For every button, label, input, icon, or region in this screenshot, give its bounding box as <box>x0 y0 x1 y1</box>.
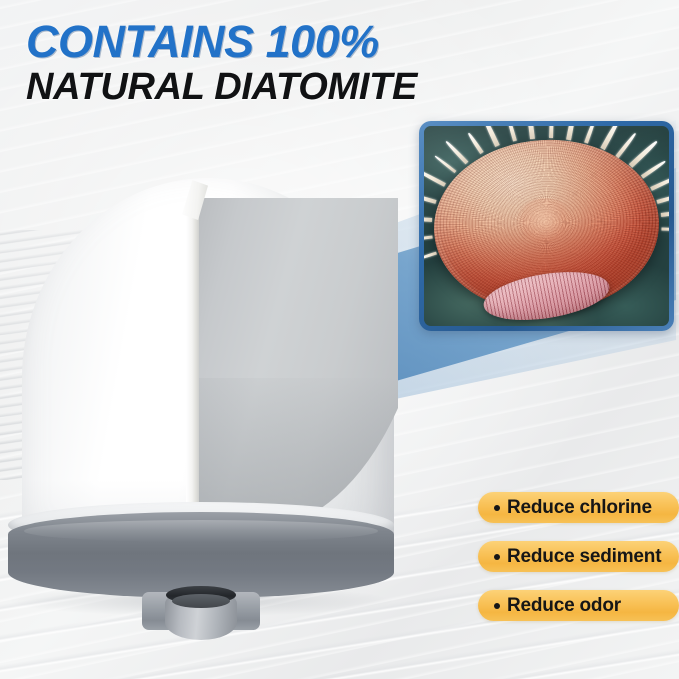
filter-threaded-fitting <box>142 590 260 640</box>
cavity-wall-rim <box>186 198 199 543</box>
micrograph-gloss <box>424 126 669 326</box>
bullet-icon <box>494 603 500 609</box>
headline-block: CONTAINS 100% NATURAL DIATOMITE <box>26 18 417 107</box>
headline-line-1: CONTAINS 100% <box>26 18 417 65</box>
badge-label: Reduce chlorine <box>507 497 652 519</box>
water-filter-product <box>0 150 420 670</box>
badge-label: Reduce odor <box>507 595 621 617</box>
product-marketing-image: CONTAINS 100% NATURAL DIATOMITE <box>0 0 679 679</box>
bullet-icon <box>494 554 500 560</box>
badge-reduce-chlorine[interactable]: Reduce chlorine <box>478 492 679 523</box>
headline-line-2: NATURAL DIATOMITE <box>26 67 417 107</box>
badge-label: Reduce sediment <box>507 546 661 568</box>
micrograph-frame <box>419 121 674 331</box>
feature-badge-list: Reduce chlorine Reduce sediment Reduce o… <box>478 492 679 621</box>
badge-reduce-sediment[interactable]: Reduce sediment <box>478 541 679 572</box>
bullet-icon <box>494 505 500 511</box>
badge-reduce-odor[interactable]: Reduce odor <box>478 590 679 621</box>
filter-cutaway-cavity <box>186 198 398 543</box>
fitting-gasket-inner <box>172 594 230 608</box>
micrograph-image <box>424 126 669 326</box>
filter-base-highlight <box>24 520 378 542</box>
